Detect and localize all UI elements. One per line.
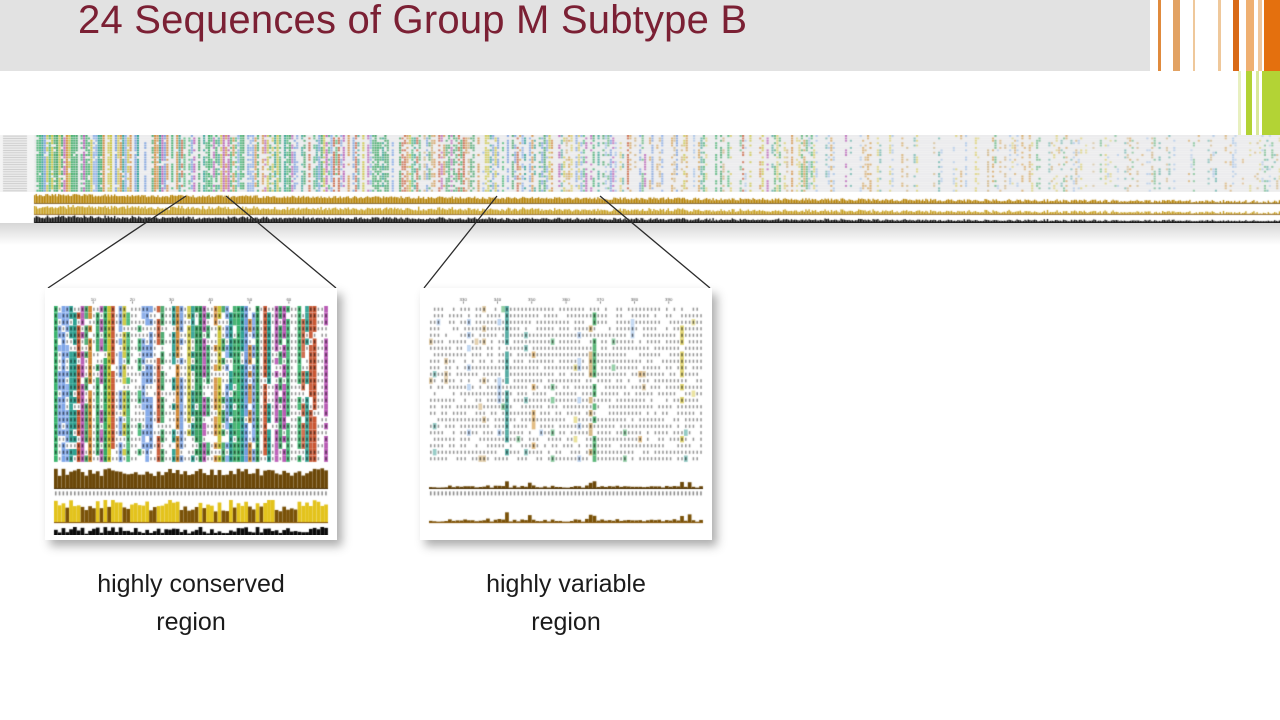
decor-bar-bottom-1 [1246, 71, 1252, 140]
decor-bar-bottom-2 [1256, 71, 1259, 140]
zoom-panel-conserved[interactable] [45, 288, 337, 540]
decor-bar-top-6 [1258, 0, 1262, 71]
caption-variable-region: highly variable region [420, 565, 712, 641]
decor-bar-top-5 [1246, 0, 1254, 71]
caption-variable-line2: region [420, 603, 712, 641]
overview-strip-shadow [0, 223, 1280, 245]
caption-conserved-line1: highly conserved [36, 565, 346, 603]
decor-bar-top-0 [1158, 0, 1161, 71]
corner-bar-motif [1150, 0, 1280, 140]
conserved-alignment-canvas [50, 294, 332, 535]
page-title: 24 Sequences of Group M Subtype B [78, 0, 747, 48]
decor-bar-bottom-0 [1238, 71, 1241, 140]
caption-conserved-line2: region [36, 603, 346, 641]
decor-bar-top-3 [1218, 0, 1221, 71]
zoom-panel-variable[interactable] [420, 288, 712, 540]
variable-alignment-canvas [425, 294, 707, 535]
decor-bar-bottom-3 [1262, 71, 1280, 140]
decor-bar-top-7 [1264, 0, 1280, 71]
overview-conservation-tracks [0, 192, 1280, 223]
decor-bar-top-4 [1233, 0, 1239, 71]
decor-bar-top-2 [1193, 0, 1195, 71]
decor-bar-top-1 [1173, 0, 1180, 71]
caption-variable-line1: highly variable [420, 565, 712, 603]
overview-alignment-canvas [0, 135, 1280, 192]
full-alignment-overview[interactable] [0, 135, 1280, 223]
caption-conserved-region: highly conserved region [36, 565, 346, 641]
